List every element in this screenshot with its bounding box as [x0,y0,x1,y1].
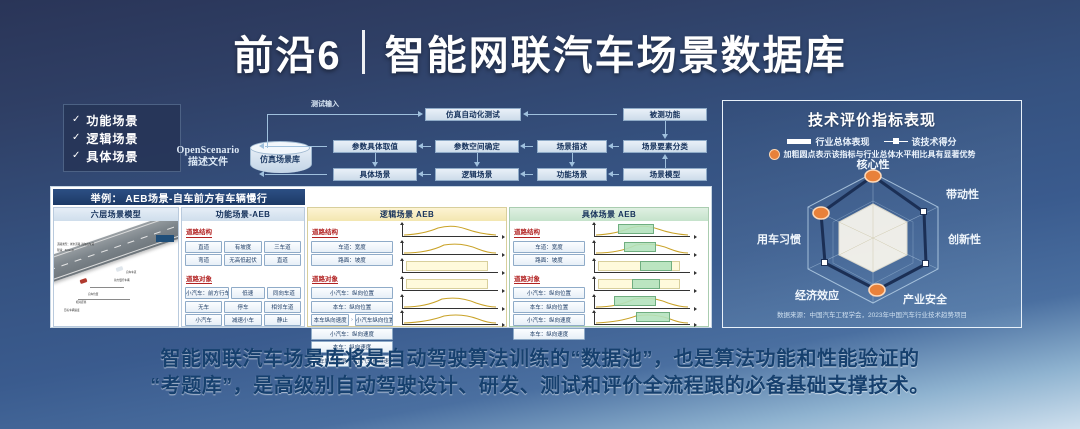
title-number: 前沿6 [233,23,341,81]
radar-axis-label: 核心性 [857,159,890,171]
flow-arrow-head [569,162,575,167]
flow-arrow-head [662,154,668,159]
flow-arrow [525,174,533,175]
road-scene-render: 道路类型：城市道路 双向四车道 限速：60 km/h 自车车道 前方慢行车辆 自… [54,221,178,326]
chip: 车道：宽度 [513,241,585,253]
radar-chart: 核心性 带动性 创新性 产业安全 经济效应 用车习惯 [743,159,1003,307]
example-panel: 举例： AEB场景-自车前方有车辆慢行 六层场景模型 道路类型：城市道路 双向四… [50,186,712,328]
lane-marking [54,224,178,271]
chip: 弯道 [185,254,222,266]
sampling-chart [588,223,696,239]
section-title: 道路对象 [514,273,540,285]
bottom-caption: 智能网联汽车场景库将是自动驾驶算法训练的“数据池”，也是算法功能和性能验证的 “… [0,338,1080,429]
radar-axis-label: 创新性 [947,232,981,246]
column-concrete-scenario: 具体场景 AEB 道路结构 车道：宽度 路面：坡度 道路对象 小汽车：纵向位置 … [509,207,709,327]
flow-arrow [525,146,533,147]
flow-arrow [265,146,327,147]
flow-arrow-head [259,171,264,177]
sampling-chart [588,241,696,257]
road-annotation: 自车位置 [88,293,98,297]
flow-arrow-head [259,143,264,149]
chip: 无车 [185,301,222,313]
column-title: 六层场景模型 [54,208,178,221]
section-title: 道路结构 [312,226,338,238]
flow-node: 参数具体取值 [333,140,417,153]
openscenario-cn: 描述文件 [170,157,246,169]
radar-chart-panel: 技术评价指标表现 行业总体表现 该技术得分 加粗圆点表示该指标与行业总体水平相比… [722,100,1022,328]
flow-arrow [613,174,619,175]
road-annotation: 相对距离 [76,301,86,305]
example-panel-header: 举例： AEB场景-自车前方有车辆慢行 [53,189,305,205]
chip-row: 本车：纵向位置 [311,301,393,313]
chip: 有坡度 [224,241,261,253]
scenario-checklist: ✓ 功能场景 ✓ 逻辑场景 ✓ 具体场景 [63,104,181,172]
flow-arrow-head [520,171,525,177]
checklist-label: 具体场景 [86,148,138,165]
caption-line-1: 智能网联汽车场景库将是自动驾驶算法训练的“数据池”，也是算法功能和性能验证的 [161,346,920,373]
scenario-flow-diagram: 测试输入 仿真自动化测试 被测功能 参数具体取值 参数空间确定 场景描述 场景要… [255,100,715,188]
page-title: 前沿6 智能网联汽车场景数据库 [0,22,1080,82]
road-annotation: 道路类型：城市道路 双向四车道 [57,243,94,247]
distribution-chart [396,311,504,327]
chip: 小汽车 [185,314,222,326]
concrete-sampling-charts [588,221,708,326]
road-badge [156,235,174,242]
chip: 本车纵向速度 [311,314,349,326]
road-annotation: 限速：60 km/h [57,249,74,253]
chip: 三车道 [264,241,301,253]
legend-item-industry: 行业总体表现 [787,135,869,148]
column-title: 逻辑场景 AEB [308,208,506,221]
chip-row: 直道 有坡度 三车道 [185,241,301,253]
flow-arrow [423,146,431,147]
distribution-chart [396,223,504,239]
chip: 车道：宽度 [311,241,393,253]
radar-source-note: 数据来源：中国汽车工程学会，2023年中国汽车行业技术趋势项目 [723,309,1021,319]
flow-arrow-head [418,143,423,149]
flow-node: 功能场景 [537,168,607,181]
road-annotation: 目标车辆速度 [64,309,80,313]
sampling-chart [588,259,696,275]
dimension-line [90,287,124,288]
flow-arrow [423,174,431,175]
chip: 同向车道 [267,287,301,299]
chip: 路面：坡度 [311,254,393,266]
flow-arrow [613,146,619,147]
flow-arrow-head [372,162,378,167]
sampling-chart [588,311,696,327]
column-title: 具体场景 AEB [510,208,708,221]
chip-row: 小汽车 减速小车 静止 [185,314,301,326]
road-annotation: 自车车道 [126,271,136,275]
flow-node: 被测功能 [623,108,707,121]
chip-row: 路面：坡度 [311,254,393,266]
flow-input-label: 测试输入 [311,99,339,109]
chip: 小汽车：纵向速度 [513,314,585,326]
flow-arrow-head [418,111,423,117]
flow-arrow [267,114,419,115]
section-title: 道路结构 [514,226,540,238]
chip-row: 小汽车：纵向速度 [513,314,585,326]
sampling-chart [588,295,696,311]
chip: 小汽车纵向位置 [355,314,393,326]
chip: 小汽车：纵向位置 [311,287,393,299]
flow-node: 仿真自动化测试 [425,108,521,121]
flow-arrow-head [608,143,613,149]
chip-row: 车道：宽度 [513,241,585,253]
check-icon: ✓ [72,133,80,143]
section-title: 道路对象 [312,273,338,285]
distribution-chart [396,259,504,275]
chip: 静止 [264,314,301,326]
radar-legend: 行业总体表现 该技术得分 [723,135,1021,148]
chip: 低速 [231,287,265,299]
flow-arrow [265,174,327,175]
chip: 相邻车道 [264,301,301,313]
flow-arrow-head [474,162,480,167]
radar-axis-label: 用车习惯 [757,232,801,246]
legend-label: 行业总体表现 [815,135,869,148]
radar-axis-label: 经济效应 [795,288,839,302]
chip: 直道 [264,254,301,266]
radar-axis-label: 带动性 [946,187,979,201]
chip: 停车 [224,301,261,313]
chip-row: 车道：宽度 [311,241,393,253]
section-title: 道路结构 [186,226,212,238]
column-title: 功能场景-AEB [182,208,304,221]
chip-row: 小汽车：纵向位置 [513,287,585,299]
chip-row: 本车纵向速度 › 小汽车纵向位置 [311,314,393,326]
flow-arrow-head [418,171,423,177]
chip: 本车：纵向位置 [311,301,393,313]
chip: 本车：纵向位置 [513,301,585,313]
flow-arrow [665,121,666,135]
column-functional-scenario: 功能场景-AEB 道路结构 直道 有坡度 三车道 弯道 无高低起伏 直道 道路对… [181,207,305,327]
chip: 无高低起伏 [224,254,261,266]
ego-vehicle-marker [80,278,88,284]
caption-line-2: “考题库”，是高级别自动驾驶设计、研发、测试和评价全流程跟的必备基础支撑技术。 [150,373,930,400]
list-item: ✓ 具体场景 [72,148,172,165]
flow-arrow-head [608,171,613,177]
distribution-chart [396,277,504,293]
distribution-chart [396,295,504,311]
legend-swatch-icon [787,139,811,144]
lead-vehicle-marker [116,266,124,272]
checklist-label: 逻辑场景 [86,130,138,147]
flow-arrow [527,114,617,115]
legend-line-icon [884,141,908,143]
column-six-layer-model: 六层场景模型 道路类型：城市道路 双向四车道 限速：60 km/h 自车车道 前… [53,207,179,327]
chip: 路面：坡度 [513,254,585,266]
chip-row: 小汽车：纵向位置 [311,287,393,299]
check-icon: ✓ [72,151,80,161]
title-text: 智能网联汽车场景数据库 [385,23,847,81]
list-item: ✓ 逻辑场景 [72,130,172,147]
chip-row: 本车：纵向位置 [513,301,585,313]
arrow-icon: › [351,317,353,323]
title-divider [362,30,365,74]
flow-arrow-head [523,111,528,117]
flow-node: 场景描述 [537,140,607,153]
flow-arrow [665,158,666,168]
openscenario-label: OpenScenario 描述文件 [170,145,246,168]
flow-arrow-head [662,134,668,139]
openscenario-en: OpenScenario [170,145,246,157]
list-item: ✓ 功能场景 [72,112,172,129]
flow-arrow [267,114,268,148]
chip-row: 小汽车：前方行车 低速 同向车道 [185,287,301,299]
road-annotation: 前方慢行车辆 [114,279,130,283]
dimension-line [78,299,130,300]
sampling-chart [588,277,696,293]
radar-chart-title: 技术评价指标表现 [723,109,1021,130]
chip-row: 弯道 无高低起伏 直道 [185,254,301,266]
flow-node: 参数空间确定 [435,140,519,153]
chip: 小汽车：纵向位置 [513,287,585,299]
flow-node: 逻辑场景 [435,168,519,181]
flow-node: 具体场景 [333,168,417,181]
distribution-chart [396,241,504,257]
logical-distribution-charts [396,221,506,326]
chip-row: 路面：坡度 [513,254,585,266]
flow-arrow-head [520,143,525,149]
radar-axis-label: 产业安全 [903,292,948,306]
flow-node: 场景模型 [623,168,707,181]
chip: 减速小车 [224,314,261,326]
chip: 直道 [185,241,222,253]
chip: 小汽车：前方行车 [185,287,229,299]
chip-row: 无车 停车 相邻车道 [185,301,301,313]
section-title: 道路对象 [186,273,212,285]
legend-item-technology: 该技术得分 [884,135,957,148]
legend-label: 该技术得分 [912,135,957,148]
checklist-label: 功能场景 [86,112,138,129]
flow-node: 场景要素分类 [623,140,707,153]
check-icon: ✓ [72,115,80,125]
column-logical-scenario: 逻辑场景 AEB 道路结构 车道：宽度 路面：坡度 道路对象 小汽车：纵向位置 … [307,207,507,327]
